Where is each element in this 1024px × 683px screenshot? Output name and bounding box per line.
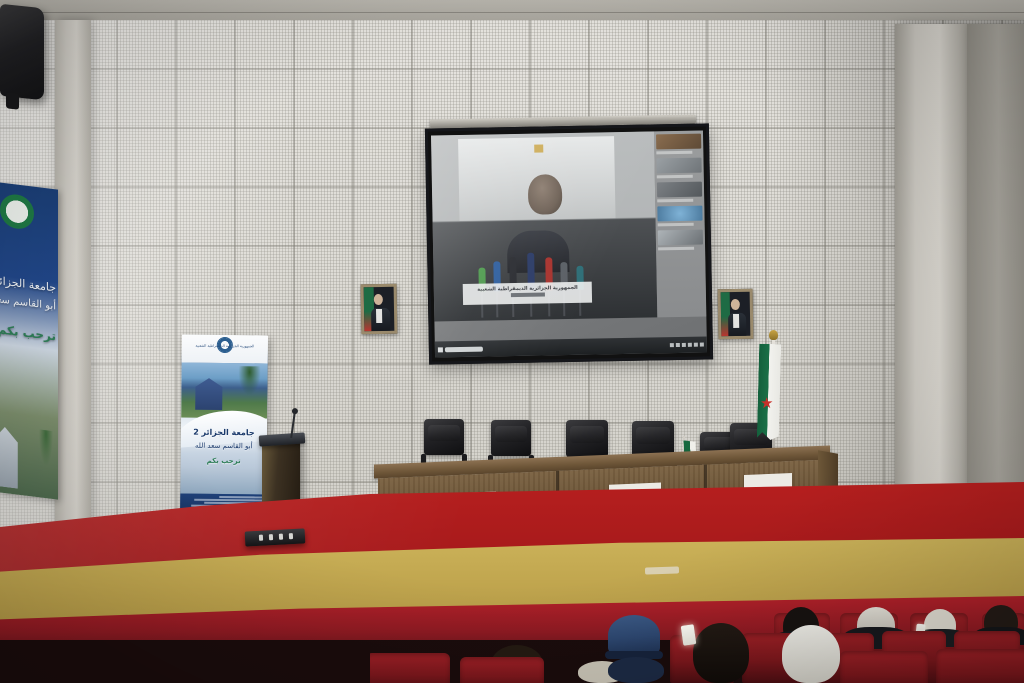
algerian-flag bbox=[757, 344, 782, 441]
paper-scrap bbox=[645, 566, 679, 574]
projected-video-area: الجمهورية الجزائرية الديمقراطية الشعبية bbox=[431, 131, 657, 322]
right-pillar-2 bbox=[967, 24, 1024, 524]
list-item bbox=[936, 649, 1024, 683]
audio-mixer bbox=[245, 528, 306, 546]
wall-banner-line-2: أبو القاسم سعد الله bbox=[0, 291, 56, 312]
attendee-service-cap bbox=[608, 615, 660, 655]
chair-1 bbox=[424, 419, 464, 465]
rollup-line-3: ترحب بكم bbox=[181, 457, 267, 466]
projected-caption-bar: الجمهورية الجزائرية الديمقراطية الشعبية bbox=[463, 282, 593, 305]
projected-caption-text: الجمهورية الجزائرية الديمقراطية الشعبية bbox=[463, 285, 592, 293]
wall-banner-building bbox=[0, 422, 38, 492]
rollup-lower-photo bbox=[180, 468, 266, 495]
phone-screen-1 bbox=[681, 624, 697, 646]
rollup-header: الجمهورية الجزائرية الديمقراطية الشعبية bbox=[182, 335, 268, 364]
wall-banner: جامعة الجزائر أبو القاسم سعد الله ترحب ب… bbox=[0, 182, 58, 499]
thumb-3 bbox=[657, 182, 702, 198]
thumb-1 bbox=[656, 134, 701, 150]
projected-sidebar bbox=[654, 131, 706, 318]
projection-screen[interactable]: الجمهورية الجزائرية الديمقراطية الشعبية bbox=[425, 123, 713, 364]
projected-taskbar bbox=[435, 337, 707, 358]
left-pillar bbox=[55, 20, 91, 525]
rollup-banner: الجمهورية الجزائرية الديمقراطية الشعبية … bbox=[180, 335, 268, 521]
projected-image: الجمهورية الجزائرية الديمقراطية الشعبية bbox=[431, 131, 707, 358]
wall-banner-line-1: جامعة الجزائر bbox=[0, 274, 56, 295]
wall-banner-palm bbox=[38, 429, 54, 471]
wall-banner-emblem-icon bbox=[0, 193, 34, 231]
projected-speaker-head bbox=[528, 174, 563, 215]
person-10 bbox=[774, 621, 848, 683]
audience-area bbox=[370, 586, 1024, 683]
person-9 bbox=[688, 621, 754, 683]
wall-portrait-left bbox=[361, 284, 398, 335]
rollup-line-2: أبو القاسم سعد الله bbox=[181, 442, 267, 451]
wall-banner-line-3: ترحب بكم bbox=[0, 322, 56, 343]
start-button-icon bbox=[438, 347, 443, 352]
rollup-header-text: الجمهورية الجزائرية الديمقراطية الشعبية bbox=[182, 344, 268, 349]
person-8 bbox=[606, 653, 666, 683]
taskbar-search-box bbox=[445, 346, 483, 352]
list-item bbox=[840, 651, 928, 683]
thumb-4 bbox=[657, 206, 702, 222]
thumb-5 bbox=[658, 230, 703, 246]
pa-speaker-icon bbox=[0, 4, 44, 101]
wall-portrait-right bbox=[718, 289, 754, 340]
list-item bbox=[460, 657, 544, 683]
thumb-2 bbox=[656, 158, 701, 174]
projected-logo-icon bbox=[534, 145, 543, 153]
taskbar-tray-icons bbox=[670, 343, 704, 348]
list-item bbox=[370, 653, 450, 683]
rollup-line-1: جامعة الجزائر 2 bbox=[181, 427, 267, 437]
right-pillar bbox=[895, 24, 967, 524]
auditorium-scene: الجمهورية الجزائرية الديمقراطية الشعبية bbox=[0, 0, 1024, 683]
projected-caption-sub bbox=[511, 293, 545, 298]
flag-finial bbox=[769, 330, 778, 340]
